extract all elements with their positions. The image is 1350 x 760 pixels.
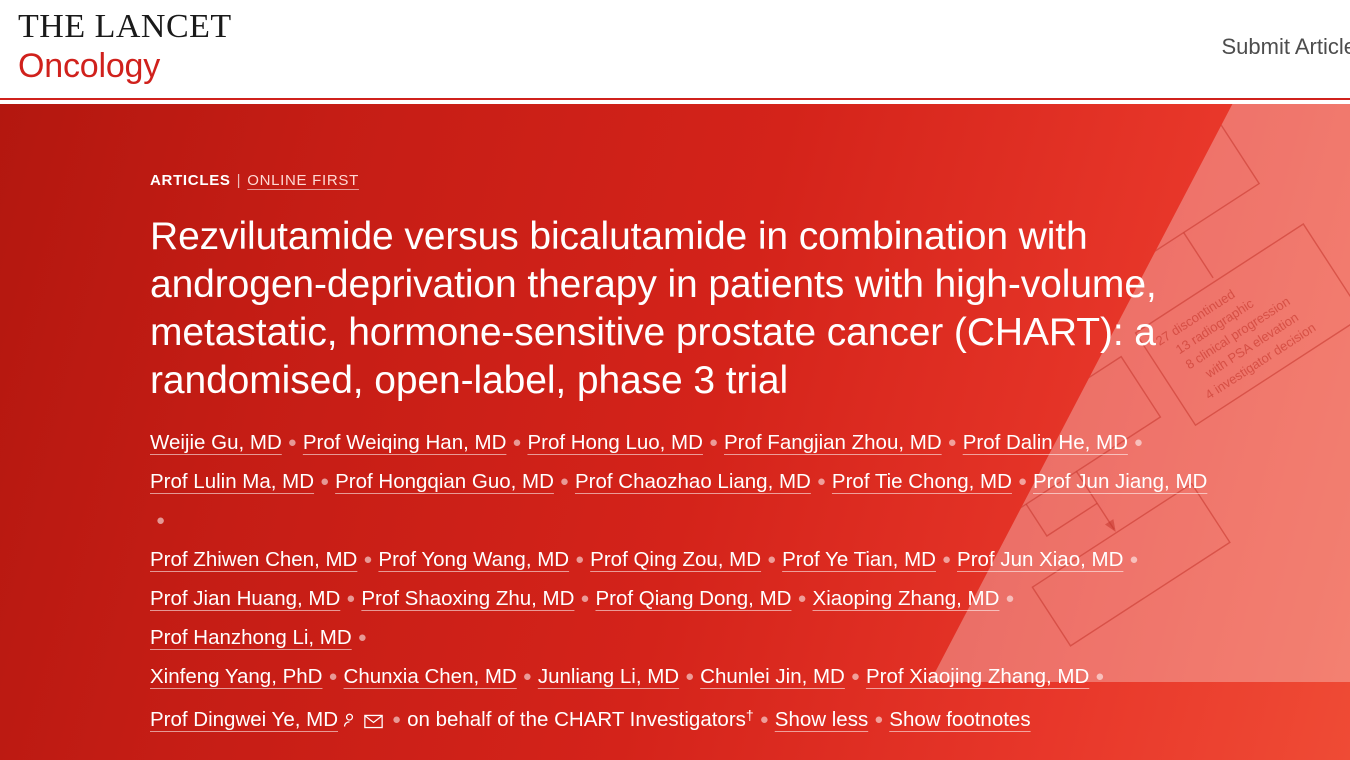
author-link[interactable]: Xiaoping Zhang, MD bbox=[813, 587, 1000, 610]
author-separator: ● bbox=[392, 700, 401, 739]
author-separator: ● bbox=[358, 618, 367, 657]
kicker-separator: | bbox=[237, 172, 242, 189]
author-link[interactable]: Weijie Gu, MD bbox=[150, 431, 282, 454]
author-link[interactable]: Chunxia Chen, MD bbox=[344, 665, 517, 688]
author-line: Prof Jian Huang, MD●Prof Shaoxing Zhu, M… bbox=[150, 579, 1210, 657]
author-link[interactable]: Prof Fangjian Zhou, MD bbox=[724, 431, 942, 454]
footnote-marker: † bbox=[746, 707, 754, 723]
article-page: THE LANCET Oncology Submit Article bbox=[0, 0, 1350, 760]
person-icon[interactable] bbox=[341, 703, 358, 742]
author-link[interactable]: Prof Jun Jiang, MD bbox=[1033, 470, 1207, 493]
author-link[interactable]: Prof Hanzhong Li, MD bbox=[150, 626, 352, 649]
author-link[interactable]: Prof Hongqian Guo, MD bbox=[335, 470, 554, 493]
journal-logo-the-lancet: THE LANCET bbox=[18, 10, 232, 44]
author-link[interactable]: Prof Jian Huang, MD bbox=[150, 587, 340, 610]
author-link[interactable]: Xinfeng Yang, PhD bbox=[150, 665, 322, 688]
author-separator: ● bbox=[1018, 462, 1027, 501]
author-separator: ● bbox=[851, 657, 860, 696]
show-less-button[interactable]: Show less bbox=[775, 708, 868, 731]
corresponding-author-link[interactable]: Prof Dingwei Ye, MD bbox=[150, 708, 338, 731]
author-link[interactable]: Prof Qing Zou, MD bbox=[590, 548, 761, 571]
article-type-label: ARTICLES bbox=[150, 172, 231, 189]
author-separator: ● bbox=[797, 579, 806, 618]
author-separator: ● bbox=[580, 579, 589, 618]
author-link[interactable]: Prof Hong Luo, MD bbox=[527, 431, 702, 454]
author-separator: ● bbox=[512, 423, 521, 462]
author-separator: ● bbox=[685, 657, 694, 696]
author-separator: ● bbox=[1005, 579, 1014, 618]
author-separator: ● bbox=[817, 462, 826, 501]
author-link[interactable]: Prof Lulin Ma, MD bbox=[150, 470, 314, 493]
author-separator: ● bbox=[874, 700, 883, 739]
author-link[interactable]: Prof Qiang Dong, MD bbox=[595, 587, 791, 610]
author-link[interactable]: Prof Dalin He, MD bbox=[963, 431, 1128, 454]
author-separator: ● bbox=[523, 657, 532, 696]
author-separator: ● bbox=[948, 423, 957, 462]
masthead-divider bbox=[0, 98, 1350, 100]
author-line-last: Prof Dingwei Ye, MD●on behalf of the CHA… bbox=[150, 696, 1210, 742]
author-separator: ● bbox=[709, 423, 718, 462]
author-separator: ● bbox=[575, 540, 584, 579]
author-separator: ● bbox=[767, 540, 776, 579]
author-link[interactable]: Junliang Li, MD bbox=[538, 665, 679, 688]
author-link[interactable]: Chunlei Jin, MD bbox=[700, 665, 845, 688]
author-separator: ● bbox=[1134, 423, 1143, 462]
author-link[interactable]: Prof Jun Xiao, MD bbox=[957, 548, 1123, 571]
journal-logo[interactable]: THE LANCET Oncology bbox=[18, 10, 232, 83]
author-separator: ● bbox=[942, 540, 951, 579]
article-hero-banner: 218 ongoing at interim analysis of progr… bbox=[0, 104, 1350, 760]
author-separator: ● bbox=[156, 501, 165, 540]
journal-logo-oncology: Oncology bbox=[18, 49, 232, 83]
author-separator: ● bbox=[1129, 540, 1138, 579]
author-link[interactable]: Prof Shaoxing Zhu, MD bbox=[361, 587, 574, 610]
author-link[interactable]: Prof Zhiwen Chen, MD bbox=[150, 548, 357, 571]
author-link[interactable]: Prof Ye Tian, MD bbox=[782, 548, 936, 571]
author-separator: ● bbox=[288, 423, 297, 462]
author-separator: ● bbox=[320, 462, 329, 501]
author-link[interactable]: Prof Tie Chong, MD bbox=[832, 470, 1012, 493]
author-link[interactable]: Prof Chaozhao Liang, MD bbox=[575, 470, 811, 493]
author-separator: ● bbox=[760, 700, 769, 739]
article-kicker: ARTICLES|ONLINE FIRST bbox=[150, 172, 1350, 189]
show-footnotes-button[interactable]: Show footnotes bbox=[889, 708, 1030, 731]
author-separator: ● bbox=[328, 657, 337, 696]
author-line: Prof Lulin Ma, MD●Prof Hongqian Guo, MD●… bbox=[150, 462, 1210, 540]
author-separator: ● bbox=[1095, 657, 1104, 696]
author-line: Prof Zhiwen Chen, MD●Prof Yong Wang, MD●… bbox=[150, 540, 1210, 579]
author-separator: ● bbox=[346, 579, 355, 618]
author-link[interactable]: Prof Xiaojing Zhang, MD bbox=[866, 665, 1089, 688]
submit-article-link[interactable]: Submit Article bbox=[1222, 34, 1350, 60]
author-link[interactable]: Prof Weiqing Han, MD bbox=[303, 431, 507, 454]
envelope-icon[interactable] bbox=[364, 703, 383, 742]
author-line: Weijie Gu, MD●Prof Weiqing Han, MD●Prof … bbox=[150, 423, 1210, 462]
article-title: Rezvilutamide versus bicalutamide in com… bbox=[150, 213, 1240, 405]
author-link[interactable]: Prof Yong Wang, MD bbox=[378, 548, 569, 571]
site-masthead: THE LANCET Oncology Submit Article bbox=[0, 0, 1350, 104]
author-list: Weijie Gu, MD●Prof Weiqing Han, MD●Prof … bbox=[150, 423, 1210, 742]
on-behalf-of-text: on behalf of the CHART Investigators bbox=[407, 708, 746, 731]
online-first-badge[interactable]: ONLINE FIRST bbox=[247, 172, 359, 189]
author-separator: ● bbox=[560, 462, 569, 501]
author-separator: ● bbox=[363, 540, 372, 579]
author-line: Xinfeng Yang, PhD●Chunxia Chen, MD●Junli… bbox=[150, 657, 1210, 696]
hero-content: ARTICLES|ONLINE FIRST Rezvilutamide vers… bbox=[0, 104, 1350, 760]
